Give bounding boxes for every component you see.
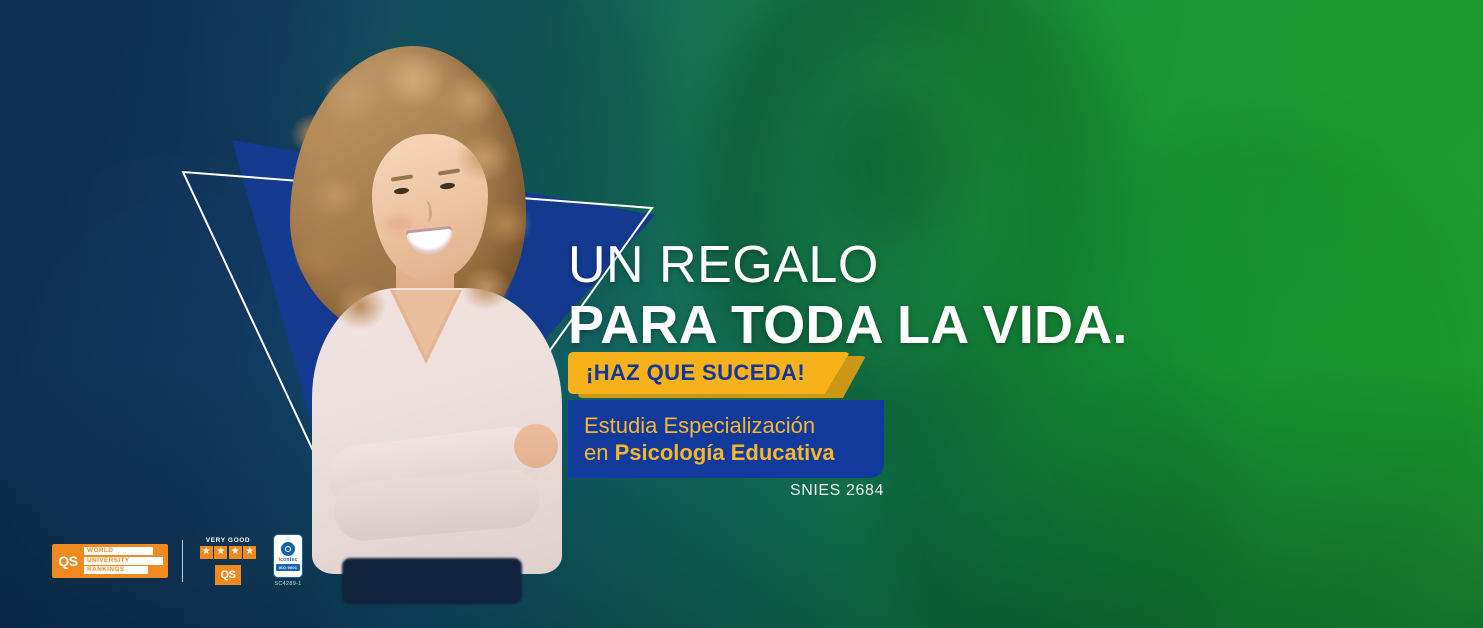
headline-line-1: UN REGALO xyxy=(568,238,1208,292)
student-photo xyxy=(268,38,588,558)
snies-code: SNIES 2684 xyxy=(568,482,884,500)
qs-rankings-line-3-text: RANKINGS xyxy=(84,566,124,574)
qs-logo-mark: QS xyxy=(52,544,84,578)
qs-rankings-line-1-text: WORLD xyxy=(84,547,113,555)
qs-stars-row: ★ ★ ★ ★ xyxy=(200,546,257,559)
icontec-card: icontec ISO 9001 xyxy=(273,534,303,578)
qs-rankings-line-2-text: UNIVERSITY xyxy=(84,557,130,565)
qs-rankings-line-1: WORLD xyxy=(84,547,153,555)
headline-line-2: PARA TODA LA VIDA. xyxy=(568,296,1208,354)
star-icon: ★ xyxy=(229,546,242,559)
icontec-logo-icon xyxy=(281,542,295,556)
star-icon: ★ xyxy=(214,546,227,559)
program-line-2: en Psicología Educativa xyxy=(584,439,870,466)
icontec-badge: icontec ISO 9001 SC4289-1 xyxy=(273,534,303,587)
program-name: Psicología Educativa xyxy=(615,440,835,465)
icontec-name: icontec xyxy=(279,557,298,563)
program-panel: Estudia Especialización en Psicología Ed… xyxy=(568,400,884,478)
badge-divider xyxy=(182,540,183,582)
star-icon: ★ xyxy=(243,546,256,559)
headline-block: UN REGALO PARA TODA LA VIDA. xyxy=(568,238,1208,354)
qs-stars-badge: VERY GOOD ★ ★ ★ ★ QS xyxy=(197,537,259,585)
qs-stars-logo-mark: QS xyxy=(215,565,241,585)
qs-stars-rating-label: VERY GOOD xyxy=(206,537,250,544)
icontec-standard: ISO 9001 xyxy=(276,564,301,571)
qs-world-university-rankings-badge: QS WORLD UNIVERSITY RANKINGS xyxy=(52,544,168,578)
cta-label: ¡HAZ QUE SUCEDA! xyxy=(568,360,805,386)
star-icon: ★ xyxy=(200,546,213,559)
program-line-1: Estudia Especialización xyxy=(584,412,870,439)
cta-surface[interactable]: ¡HAZ QUE SUCEDA! xyxy=(568,352,850,394)
qs-rankings-lines: WORLD UNIVERSITY RANKINGS xyxy=(84,544,168,578)
icontec-certificate-code: SC4289-1 xyxy=(274,581,301,587)
qs-rankings-line-3: RANKINGS xyxy=(84,566,148,574)
program-line-2-prefix: en xyxy=(584,440,615,465)
cta-badge[interactable]: ¡HAZ QUE SUCEDA! xyxy=(568,352,868,396)
qs-rankings-line-2: UNIVERSITY xyxy=(84,557,163,565)
promo-banner: UN REGALO PARA TODA LA VIDA. ¡HAZ QUE SU… xyxy=(0,0,1483,628)
accreditation-badges: QS WORLD UNIVERSITY RANKINGS VERY GOOD ★… xyxy=(52,534,303,587)
